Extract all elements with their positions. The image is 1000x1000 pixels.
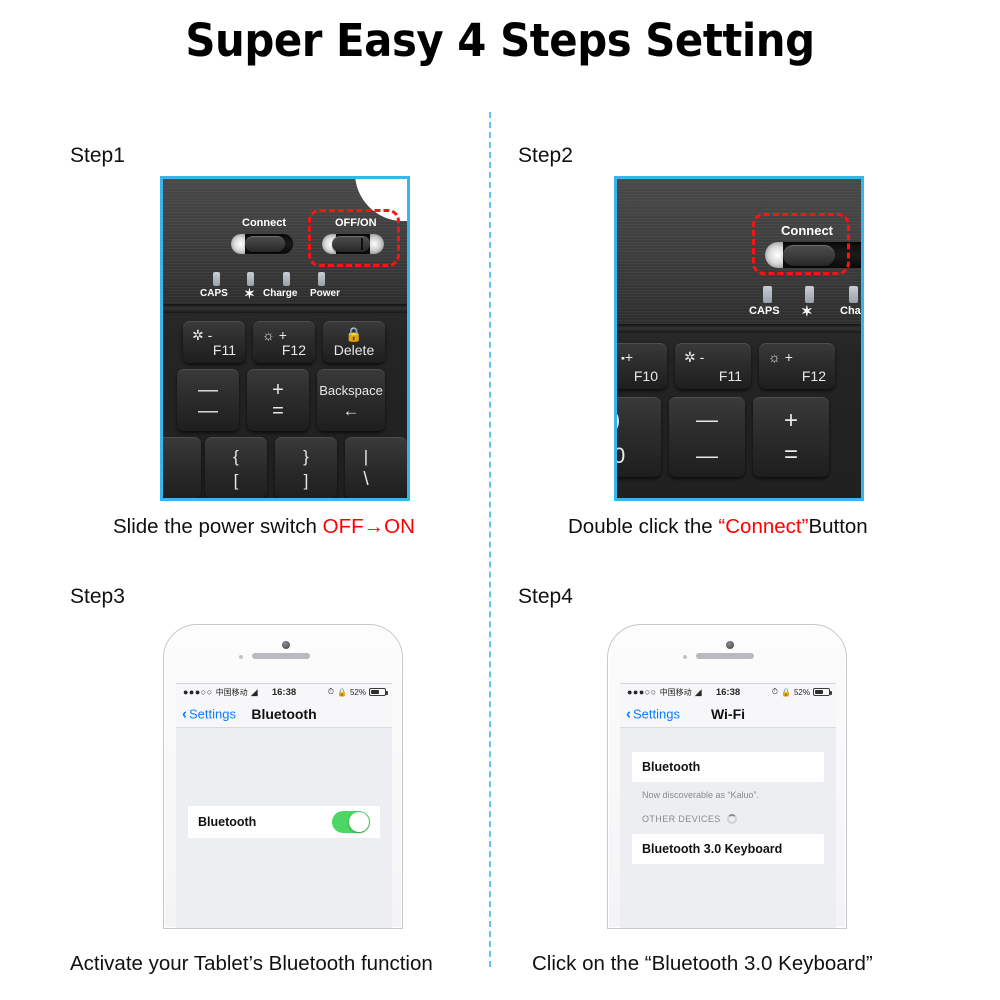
step-1-cell: Step1 Connect OFF/ON	[0, 0, 490, 560]
bluetooth-keyboard-row[interactable]: Bluetooth 3.0 Keyboard	[632, 834, 824, 864]
lock-icon: 🔒	[323, 326, 385, 343]
key-plus-equals-2[interactable]: + =	[753, 397, 829, 477]
step-1-device-image: Connect OFF/ON CAPS ✶	[163, 179, 407, 498]
alarm-icon-2: ⏱	[772, 687, 778, 697]
step-2-cell: Step2 Connect CAPS ✶ Cha	[490, 0, 1000, 560]
led-label-power: Power	[310, 288, 340, 299]
rotation-lock-icon: 🔒	[337, 688, 347, 697]
step-3-nav-title: Bluetooth	[176, 706, 392, 722]
backspace-arrow-icon: ←	[317, 401, 385, 421]
step-3-cell: Step3 ●●●○○ 中国移动 ◢ 16:38 ⏱ 🔒 52%	[0, 560, 490, 1000]
led-charge-2	[849, 286, 858, 303]
step-3-caption-text: Activate your Tablet’s Bluetooth functio…	[70, 952, 433, 975]
step-3-nav-bar: ‹ Settings Bluetooth	[176, 700, 392, 728]
step-4-label: Step4	[518, 585, 573, 609]
key-f11-symbol-2: ✲ -	[684, 349, 704, 366]
bluetooth-row-label: Bluetooth	[198, 815, 256, 829]
step-4-status-bar: ●●●○○ 中国移动 ◢ 16:38 ⏱ 🔒 52%	[620, 684, 836, 700]
bluetooth-icon: ✶	[244, 286, 255, 302]
led-caps	[213, 272, 220, 286]
step-4-caption: Click on the “Bluetooth 3.0 Keyboard”	[532, 952, 873, 976]
key-minus[interactable]: — —	[177, 369, 239, 431]
discoverable-note: Now discoverable as “Kaluo”.	[642, 790, 759, 800]
bluetooth-keyboard-label: Bluetooth 3.0 Keyboard	[642, 842, 782, 856]
infographic-page: Super Easy 4 Steps Setting Step1 Connect…	[0, 0, 1000, 1000]
earpiece-speaker	[252, 653, 310, 659]
key-equals-lower: =	[247, 400, 309, 423]
battery-icon	[369, 688, 386, 696]
step-3-screen: ●●●○○ 中国移动 ◢ 16:38 ⏱ 🔒 52% ‹	[176, 683, 392, 929]
keyboard-lip-2	[617, 324, 861, 333]
keyboard-lip	[163, 304, 407, 313]
step-4-cell: Step4 ●●●○○ 中国移动 ◢ 16:38 ⏱ 🔒 52%	[490, 560, 1000, 1000]
step-4-screen: ●●●○○ 中国移动 ◢ 16:38 ⏱ 🔒 52% ‹	[620, 683, 836, 929]
key-paren-right: )	[617, 407, 661, 433]
step-2-caption-suffix: Button	[808, 515, 867, 538]
step-1-label: Step1	[70, 144, 125, 168]
key-f11-symbol: ✲ -	[192, 327, 212, 344]
step-2-device-image: Connect CAPS ✶ Cha ⬝+ F10	[617, 179, 861, 498]
key-f12-label-2: F12	[802, 368, 826, 384]
step-1-device-photo: Connect OFF/ON CAPS ✶	[160, 176, 410, 501]
key-zero[interactable]: ) 0	[617, 397, 661, 477]
step-2-label: Step2	[518, 144, 573, 168]
step-3-label: Step3	[70, 585, 125, 609]
connect-switch-cap	[231, 234, 245, 254]
battery-percent-2: 52%	[794, 688, 810, 697]
rotation-lock-icon-2: 🔒	[781, 688, 791, 697]
key-zero-label: 0	[617, 443, 661, 469]
key-minus-upper: —	[177, 379, 239, 402]
bluetooth-row-label-2: Bluetooth	[642, 760, 700, 774]
step-1-caption-prefix: Slide the power switch	[113, 515, 323, 538]
key-minus-upper-2: —	[669, 407, 745, 433]
step-4-phone: ●●●○○ 中国移动 ◢ 16:38 ⏱ 🔒 52% ‹	[607, 624, 847, 929]
key-backslash-lower: \	[325, 469, 407, 491]
key-minus-lower: —	[177, 400, 239, 423]
step-4-nav-bar: ‹ Settings Wi-Fi	[620, 700, 836, 728]
key-partial-left[interactable]	[163, 437, 201, 498]
alarm-icon: ⏱	[328, 687, 334, 697]
front-camera-icon	[282, 641, 290, 649]
key-f12[interactable]: ☼ + F12	[253, 321, 315, 363]
step-2-caption: Double click the “Connect”Button	[568, 515, 868, 539]
key-plus-upper: +	[247, 379, 309, 402]
key-f10[interactable]: ⬝+ F10	[617, 343, 667, 389]
key-equals-lower-2: =	[753, 441, 829, 469]
step-3-status-bar: ●●●○○ 中国移动 ◢ 16:38 ⏱ 🔒 52%	[176, 684, 392, 700]
step-2-caption-highlight: “Connect”	[718, 515, 808, 538]
connect-switch-label: Connect	[242, 217, 286, 229]
bluetooth-toggle-row[interactable]: Bluetooth	[188, 806, 380, 838]
bluetooth-toggle[interactable]	[332, 811, 370, 833]
front-camera-icon-2	[726, 641, 734, 649]
key-f12-symbol-2: ☼ +	[768, 349, 793, 365]
key-bracket-left[interactable]: { [	[205, 437, 267, 498]
led-bluetooth	[247, 272, 254, 286]
loading-spinner-icon	[727, 814, 737, 824]
led-label-caps-2: CAPS	[749, 305, 780, 317]
connect-switch-knob[interactable]	[245, 236, 285, 252]
key-f12-symbol: ☼ +	[262, 327, 287, 343]
proximity-sensor-icon-2	[683, 655, 687, 659]
other-devices-header: OTHER DEVICES	[642, 814, 737, 824]
key-f12-2[interactable]: ☼ + F12	[759, 343, 835, 389]
proximity-sensor-icon	[239, 655, 243, 659]
step-2-caption-prefix: Double click the	[568, 515, 718, 538]
led-label-charge: Charge	[263, 288, 297, 299]
key-backslash[interactable]: | \	[345, 437, 407, 498]
led-bluetooth-2	[805, 286, 814, 303]
step-1-caption-highlight: OFF→ON	[323, 515, 415, 538]
volume-up-icon: ⬝+	[621, 349, 633, 366]
key-brace-left: {	[205, 447, 267, 467]
key-minus-2[interactable]: — —	[669, 397, 745, 477]
key-bracket-left-lower: [	[205, 471, 267, 491]
connect-switch-highlight	[752, 213, 850, 275]
bluetooth-icon-2: ✶	[801, 303, 813, 320]
step-4-nav-title: Wi-Fi	[620, 706, 836, 722]
power-switch-highlight	[308, 209, 400, 267]
key-f11[interactable]: ✲ - F11	[183, 321, 245, 363]
key-f12-label: F12	[282, 342, 306, 358]
key-backspace[interactable]: Backspace ←	[317, 369, 385, 431]
step-1-caption: Slide the power switch OFF→ON	[113, 515, 415, 539]
key-delete[interactable]: 🔒 Delete	[323, 321, 385, 363]
key-f11-2[interactable]: ✲ - F11	[675, 343, 751, 389]
key-pipe: |	[325, 447, 407, 467]
led-label-charge-2: Cha	[840, 305, 861, 317]
key-minus-lower-2: —	[669, 443, 745, 469]
key-f11-label-2: F11	[719, 368, 742, 384]
led-caps-2	[763, 286, 772, 303]
key-f11-label: F11	[213, 342, 236, 358]
key-plus-equals[interactable]: + =	[247, 369, 309, 431]
status-right-group-2: ⏱ 🔒 52%	[772, 687, 830, 697]
battery-icon-2	[813, 688, 830, 696]
bluetooth-row[interactable]: Bluetooth	[632, 752, 824, 782]
key-delete-label: Delete	[323, 342, 385, 358]
led-power	[318, 272, 325, 286]
step-2-device-photo: Connect CAPS ✶ Cha ⬝+ F10	[614, 176, 864, 501]
led-label-caps: CAPS	[200, 288, 228, 299]
other-devices-label: OTHER DEVICES	[642, 814, 721, 824]
status-right-group: ⏱ 🔒 52%	[328, 687, 386, 697]
key-f10-label: F10	[634, 368, 658, 384]
step-3-phone: ●●●○○ 中国移动 ◢ 16:38 ⏱ 🔒 52% ‹	[163, 624, 403, 929]
battery-percent: 52%	[350, 688, 366, 697]
earpiece-speaker-2	[696, 653, 754, 659]
led-charge	[283, 272, 290, 286]
key-plus-upper-2: +	[753, 407, 829, 435]
step-4-caption-text: Click on the “Bluetooth 3.0 Keyboard”	[532, 952, 873, 975]
key-backspace-label: Backspace	[317, 383, 385, 398]
step-3-caption: Activate your Tablet’s Bluetooth functio…	[70, 952, 433, 976]
